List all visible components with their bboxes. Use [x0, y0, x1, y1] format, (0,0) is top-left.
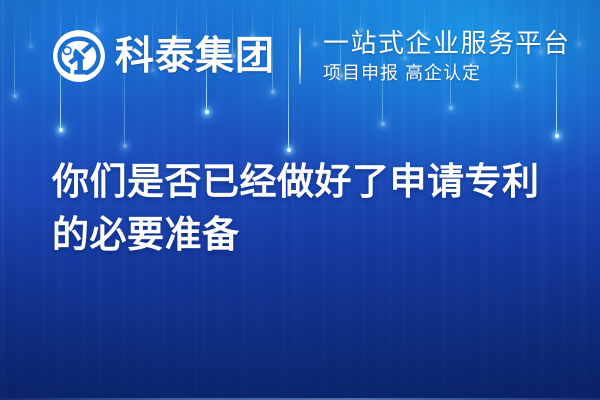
promo-banner: 科泰集团 一站式企业服务平台 项目申报 高企认定 你们是否已经做好了申请专利的必… — [0, 0, 600, 400]
tagline-primary: 一站式企业服务平台 — [323, 28, 571, 59]
header-divider — [299, 28, 301, 84]
banner-header: 科泰集团 一站式企业服务平台 项目申报 高企认定 — [52, 28, 571, 84]
tagline-secondary: 项目申报 高企认定 — [323, 64, 571, 84]
tagline-block: 一站式企业服务平台 项目申报 高企认定 — [323, 28, 571, 83]
headline-text: 你们是否已经做好了申请专利的必要准备 — [52, 156, 552, 261]
brand-logo-lockup[interactable]: 科泰集团 — [52, 29, 275, 83]
ketai-circular-logo-icon — [52, 29, 106, 83]
brand-name: 科泰集团 — [115, 37, 275, 76]
